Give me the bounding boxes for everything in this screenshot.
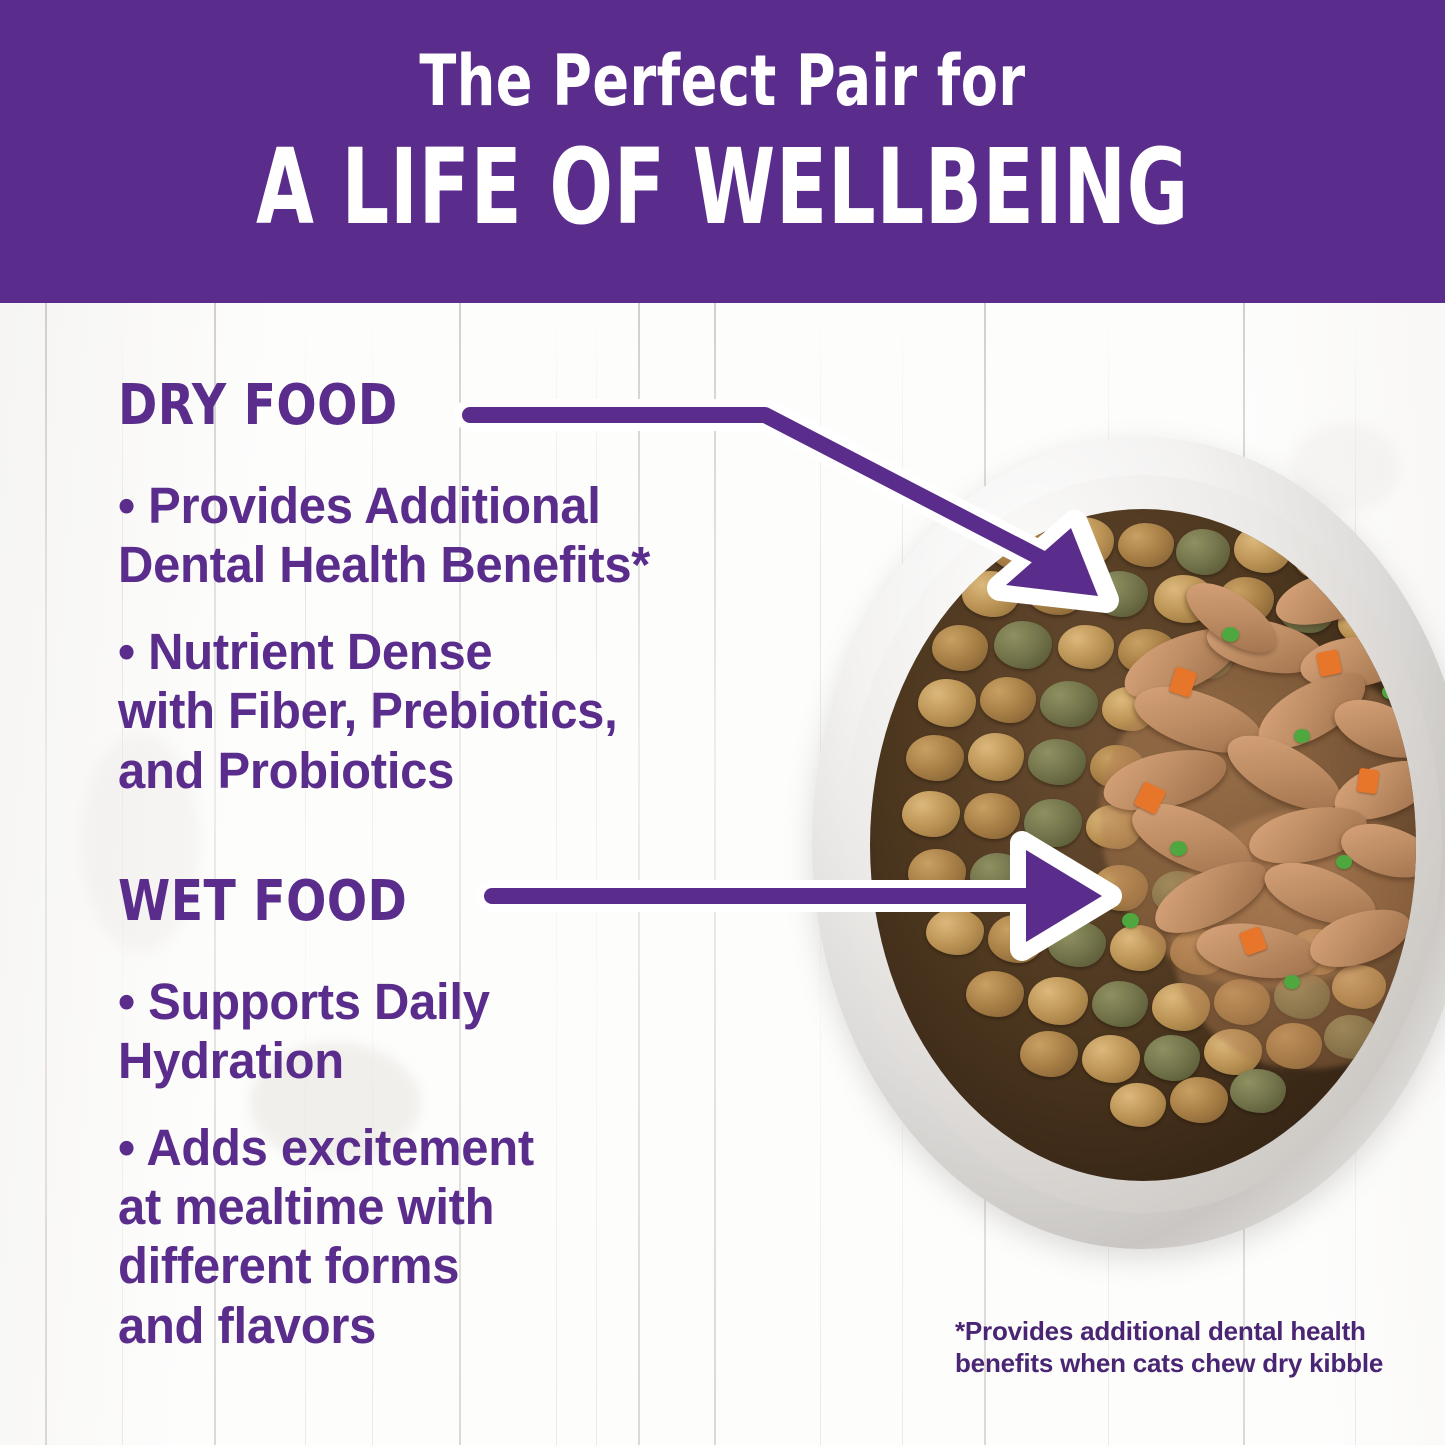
- bullet-dry-1-line-1: • Provides Additional: [118, 476, 828, 535]
- bullet-wet-1-line-2: Hydration: [118, 1031, 828, 1090]
- bullet-wet-2-line-4: and flavors: [118, 1296, 828, 1355]
- bullet-dry-2-line-2: with Fiber, Prebiotics,: [118, 681, 828, 740]
- section-heading-dry-food: DRY FOOD: [118, 378, 814, 434]
- bullet-dry-2: • Nutrient Dense with Fiber, Prebiotics,…: [118, 622, 828, 799]
- bullet-wet-1-line-1: • Supports Daily: [118, 972, 828, 1031]
- footnote-line-1: *Provides additional dental health: [955, 1316, 1395, 1348]
- section-heading-wet-food: WET FOOD: [118, 874, 814, 930]
- bullet-dry-1-line-2: Dental Health Benefits*: [118, 535, 828, 594]
- footnote-line-2: benefits when cats chew dry kibble: [955, 1348, 1395, 1380]
- bullet-dry-2-line-1: • Nutrient Dense: [118, 622, 828, 681]
- benefits-column: DRY FOOD • Provides Additional Dental He…: [118, 303, 858, 1355]
- bullet-wet-2-line-3: different forms: [118, 1236, 828, 1295]
- bullet-wet-2-line-1: • Adds excitement: [118, 1118, 828, 1177]
- bullet-dry-2-line-3: and Probiotics: [118, 741, 828, 800]
- footnote: *Provides additional dental health benef…: [955, 1316, 1395, 1379]
- bullet-wet-1: • Supports Daily Hydration: [118, 972, 828, 1090]
- infographic-canvas: The Perfect Pair for A LIFE OF WELLBEING: [0, 0, 1445, 1445]
- bullet-wet-2-line-2: at mealtime with: [118, 1177, 828, 1236]
- bullet-dry-1: • Provides Additional Dental Health Bene…: [118, 476, 828, 594]
- bullet-wet-2: • Adds excitement at mealtime with diffe…: [118, 1118, 828, 1355]
